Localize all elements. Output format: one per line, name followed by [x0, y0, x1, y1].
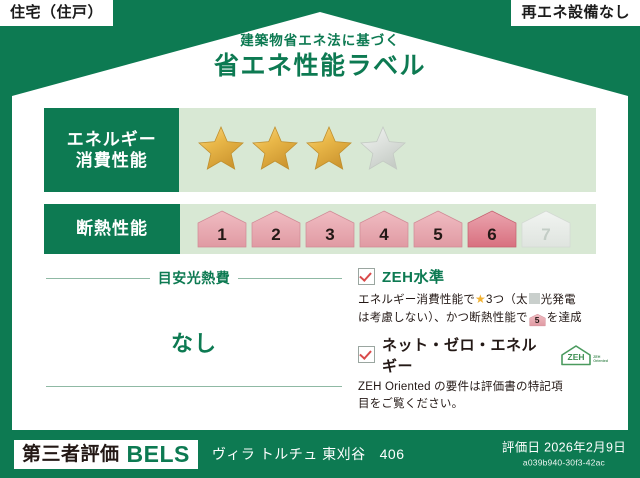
note-zeh-standard-title: ZEH水準: [358, 266, 608, 287]
note-body-mid: 3つ（太: [486, 294, 528, 306]
inline-insulation-badge-icon: 5: [529, 313, 546, 326]
note-net-zero-line1: ZEH Oriented の要件は評価書の特記項: [358, 381, 563, 393]
note-body-line2-pre: は考慮しない）、かつ断熱性能で: [358, 312, 528, 324]
energy-label-line1: エネルギー消費性能: [67, 129, 157, 172]
note-zeh-standard: ZEH水準 エネルギー消費性能で★3つ（太光発電 は考慮しない）、かつ断熱性能で…: [358, 266, 608, 328]
utility-cost-heading: 目安光熱費: [46, 268, 342, 288]
notes-block: ZEH水準 エネルギー消費性能で★3つ（太光発電 は考慮しない）、かつ断熱性能で…: [358, 266, 608, 420]
insulation-level-3-text: 3: [325, 226, 334, 249]
insulation-level-scale: 1 2 3 4: [196, 209, 572, 249]
page-title: 省エネ性能ラベル: [12, 54, 628, 79]
insulation-performance-row: 断熱性能 1 2 3: [44, 204, 596, 254]
label-content: 建築物省エネ法に基づく 省エネ性能ラベル エネルギー消費性能: [12, 12, 628, 430]
utility-cost-block: 目安光熱費 なし: [46, 268, 342, 358]
star-icon-1: [197, 125, 245, 176]
utility-bottom-rule: [46, 386, 342, 387]
note-net-zero-title: ネット・ゼロ・エネルギー ZEH ZEHOriented: [358, 334, 608, 376]
insulation-level-5: 5: [412, 209, 464, 249]
star-icon-3: [305, 125, 353, 176]
evaluation-meta: 評価日 2026年2月9日 a039b940-30f3-42ac: [502, 441, 626, 468]
building-info: ヴィラ トルチュ 東刈谷406: [212, 444, 405, 464]
insulation-level-6-text: 6: [487, 226, 496, 249]
insulation-level-2-text: 2: [271, 226, 280, 249]
label-footer: 第三者評価 BELS ヴィラ トルチュ 東刈谷406 評価日 2026年2月9日…: [0, 430, 640, 478]
note-net-zero-line2: 目をご覧ください。: [358, 398, 463, 410]
star-rating: [197, 125, 407, 176]
energy-performance-value: [179, 108, 596, 192]
header-subtitle: 建築物省エネ法に基づく: [12, 34, 628, 48]
insulation-level-4-text: 4: [379, 226, 388, 249]
bels-logo-text: BELS: [127, 443, 190, 466]
insulation-level-1: 1: [196, 209, 248, 249]
insulation-level-5-text: 5: [433, 226, 442, 249]
lower-section: 目安光熱費 なし ZEH水準 エネルギー消費性能で★3つ（太光発電: [28, 268, 612, 414]
note-body-mid2: 光発電: [541, 294, 576, 306]
energy-performance-label: 建築物省エネ法に基づく 省エネ性能ラベル エネルギー消費性能: [0, 0, 640, 478]
bels-badge: 第三者評価 BELS: [14, 440, 198, 469]
utility-rule-right: [238, 278, 342, 279]
checkbox-checked-icon-2: [358, 346, 375, 363]
utility-rule-left: [46, 278, 150, 279]
insulation-performance-label-text: 断熱性能: [44, 204, 180, 254]
note-zeh-standard-title-text: ZEH水準: [382, 266, 445, 287]
insulation-level-4: 4: [358, 209, 410, 249]
redaction-block: [529, 293, 540, 304]
insulation-level-1-text: 1: [217, 226, 226, 249]
ratings-panel: エネルギー消費性能: [28, 92, 612, 414]
note-net-zero-body: ZEH Oriented の要件は評価書の特記項 目をご覧ください。: [358, 379, 608, 415]
checkbox-checked-icon: [358, 268, 375, 285]
insulation-level-3: 3: [304, 209, 356, 249]
evaluation-date: 評価日 2026年2月9日: [502, 441, 626, 456]
third-party-evaluation-text: 第三者評価: [22, 445, 120, 464]
note-net-zero-energy: ネット・ゼロ・エネルギー ZEH ZEHOriented ZEH Oriente…: [358, 334, 608, 415]
star-icon-2: [251, 125, 299, 176]
zeh-logo-caption: ZEHOriented: [593, 355, 608, 366]
utility-cost-heading-text: 目安光熱費: [158, 268, 231, 288]
housing-type-tag: 住宅（住戸）: [0, 0, 113, 26]
note-body-line2-post: を達成: [547, 312, 582, 324]
note-body-pre: エネルギー消費性能で: [358, 294, 475, 306]
renewable-equipment-tag: 再エネ設備なし: [511, 0, 640, 26]
insulation-level-7-text: 7: [541, 226, 550, 249]
insulation-level-2: 2: [250, 209, 302, 249]
energy-performance-row: エネルギー消費性能: [44, 108, 596, 192]
energy-performance-label-text: エネルギー消費性能: [44, 108, 179, 192]
utility-cost-value: なし: [46, 326, 342, 358]
insulation-level-6-achieved: 6: [466, 209, 518, 249]
label-header: 建築物省エネ法に基づく 省エネ性能ラベル: [12, 34, 628, 79]
star-icon-4-empty: [359, 125, 407, 176]
building-name: ヴィラ トルチュ 東刈谷: [212, 446, 366, 462]
inline-star-icon: ★: [475, 292, 486, 306]
unit-number: 406: [380, 446, 405, 462]
document-id: a039b940-30f3-42ac: [502, 458, 626, 468]
zeh-logo-icon: ZEH ZEHOriented: [560, 344, 608, 366]
inline-badge-text: 5: [529, 313, 546, 327]
insulation-level-7-inactive: 7: [520, 209, 572, 249]
svg-text:ZEH: ZEH: [568, 352, 585, 362]
note-net-zero-title-text: ネット・ゼロ・エネルギー: [382, 334, 551, 376]
note-zeh-standard-body: エネルギー消費性能で★3つ（太光発電 は考慮しない）、かつ断熱性能で5を達成: [358, 290, 608, 328]
insulation-performance-value: 1 2 3 4: [180, 204, 596, 254]
